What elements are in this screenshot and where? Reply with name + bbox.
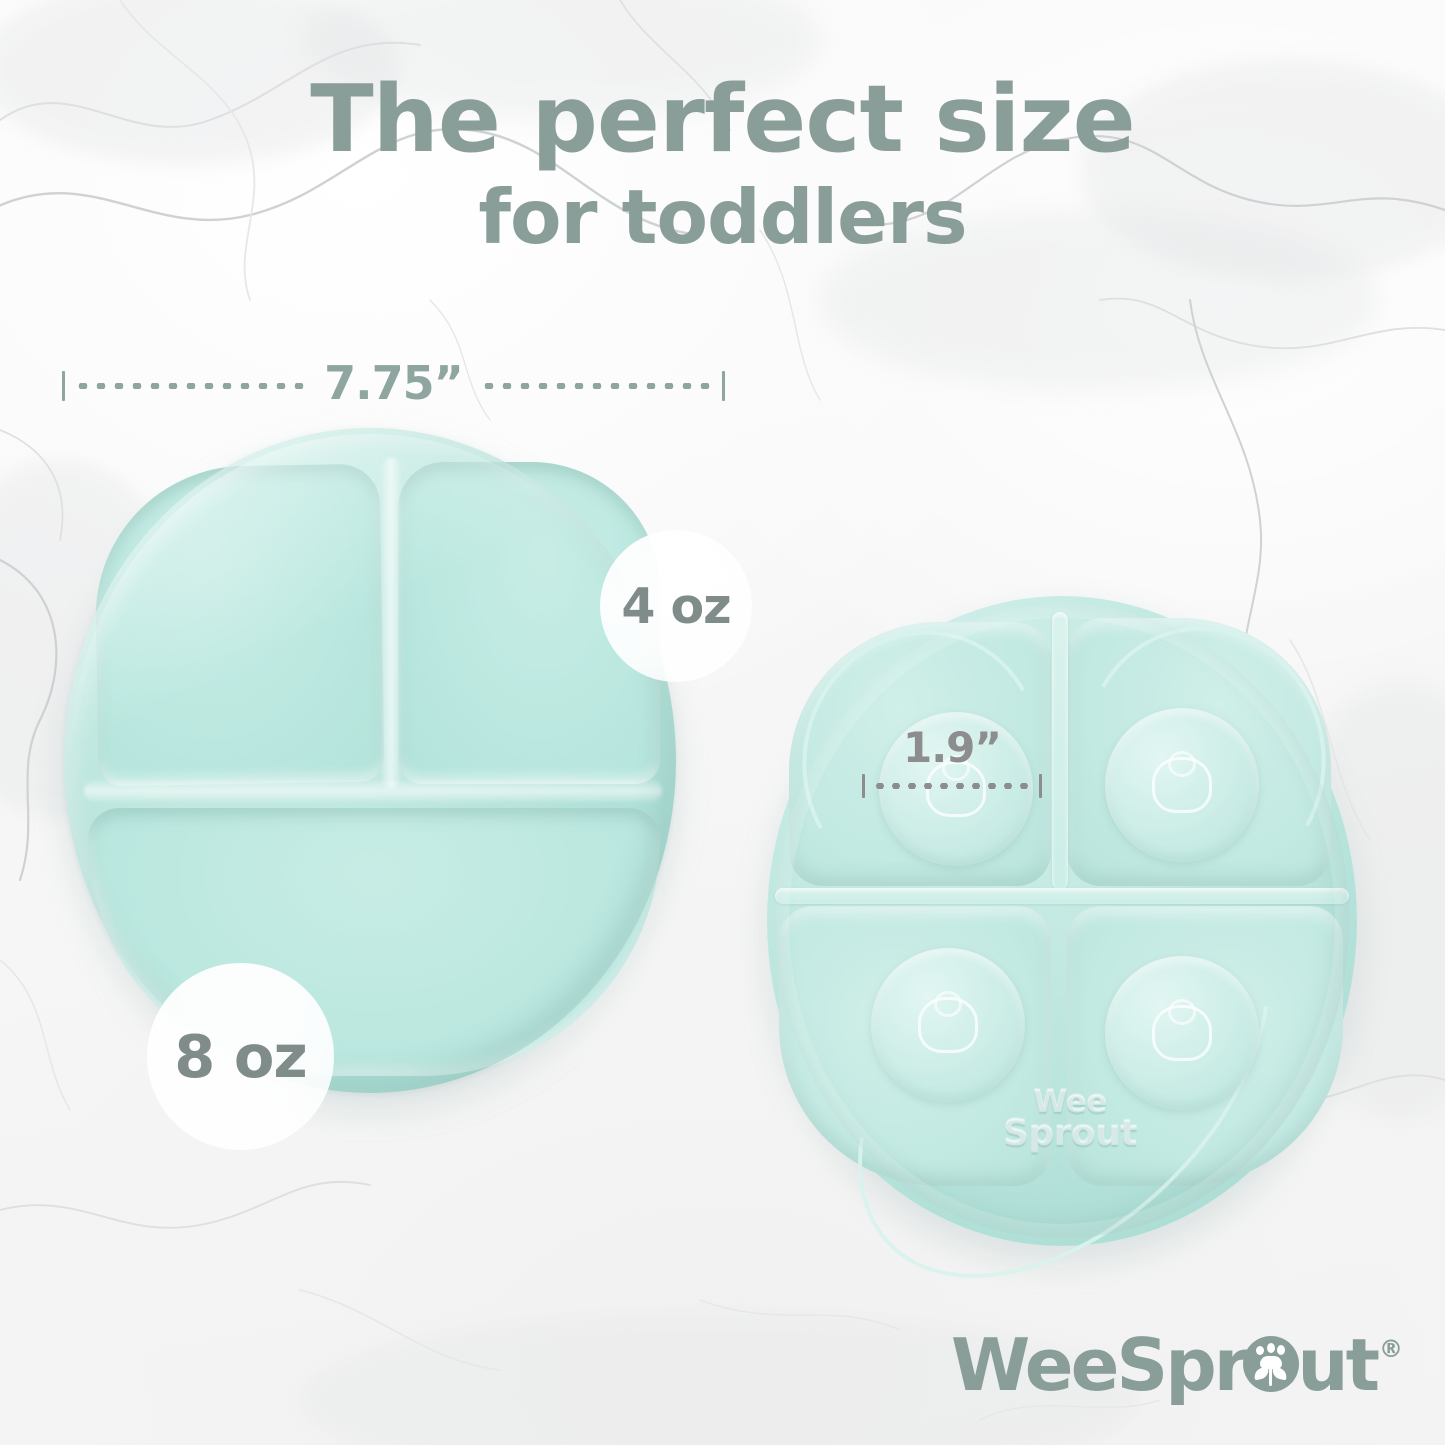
embossed-logo-line-2: Sprout [965, 1117, 1175, 1151]
groove-vertical [1052, 612, 1068, 890]
toddler-plate-front [64, 428, 676, 1093]
dimension-dots-right [480, 383, 713, 389]
capacity-badge-4oz: 4 oz [600, 530, 752, 682]
dimension-dots-left [74, 383, 307, 389]
plate-width-dimension: 7.75” [62, 364, 725, 408]
headline-line-2: for toddlers [0, 179, 1445, 256]
page-title: The perfect size for toddlers [0, 72, 1445, 255]
plate-width-value: 7.75” [316, 360, 471, 406]
registered-trademark: ® [1379, 1335, 1403, 1363]
suction-cup-lower-right [1105, 956, 1259, 1110]
toddler-plate-underside: Wee Sprout [767, 596, 1357, 1246]
dimension-cap-right [722, 371, 725, 401]
suction-cup-dimension: 1.9” [862, 727, 1042, 797]
capacity-badge-8oz: 8 oz [147, 963, 334, 1150]
brand-word-b: ut [1297, 1329, 1377, 1401]
dimension-cap-right [1039, 774, 1042, 798]
suction-cup-value: 1.9” [862, 727, 1042, 769]
compartment-upper-left [93, 464, 385, 787]
headline-line-1: The perfect size [0, 72, 1445, 167]
suction-cup-dimension-line [862, 775, 1042, 797]
dimension-dots [872, 783, 1032, 789]
dimension-cap-left [862, 774, 865, 798]
suction-cup-upper-right [1105, 708, 1259, 862]
divider-ridge-vertical [382, 458, 400, 788]
embossed-brand-logo: Wee Sprout [965, 1088, 1175, 1152]
suction-cup-lower-left [871, 948, 1025, 1102]
brand-word-a: WeeSpr [951, 1329, 1246, 1401]
dimension-cap-left [62, 371, 65, 401]
brand-logo: WeeSpr ut ® [951, 1329, 1403, 1401]
divider-ridge-horizontal [84, 780, 662, 802]
sprout-footprint-icon [1243, 1336, 1299, 1392]
